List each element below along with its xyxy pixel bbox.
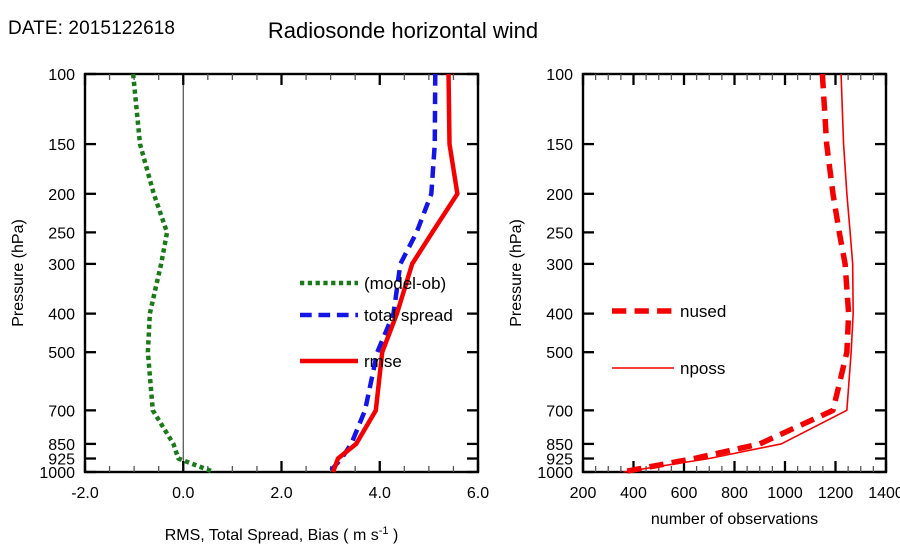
- left-panel-x-axis-title: RMS, Total Spread, Bias ( m s-1 ): [165, 525, 399, 544]
- right-panel-ytick-label: 150: [546, 137, 573, 154]
- right-panel-xtick-label: 1400: [868, 485, 900, 502]
- left-panel-ytick-label: 250: [48, 225, 75, 242]
- left-panel-series-bias: [133, 74, 214, 472]
- right-panel-frame: [583, 74, 886, 472]
- right-panel-ytick-label: 300: [546, 257, 573, 274]
- left-panel-ytick-label: 150: [48, 137, 75, 154]
- left-panel-ytick-label: 500: [48, 345, 75, 362]
- left-panel-frame: [85, 74, 478, 472]
- left-panel-series-total_spread: [330, 74, 436, 472]
- right-panel-series-nused: [622, 74, 848, 472]
- left-panel-legend-label-total_spread: total spread: [364, 306, 453, 325]
- right-panel-ytick-label: 100: [546, 67, 573, 84]
- right-panel-xtick-label: 600: [671, 485, 698, 502]
- left-panel-ytick-label: 400: [48, 307, 75, 324]
- left-panel-ytick-label: 300: [48, 257, 75, 274]
- right-panel-ytick-label: 400: [546, 307, 573, 324]
- left-panel-legend-label-bias: (model-ob): [364, 274, 446, 293]
- left-panel-ytick-label: 100: [48, 67, 75, 84]
- left-panel-ytick-label: 700: [48, 403, 75, 420]
- right-panel-ytick-label: 200: [546, 187, 573, 204]
- right-panel-ytick-label: 1000: [537, 465, 573, 482]
- left-panel-xtick-label: 2.0: [270, 485, 292, 502]
- right-panel-xtick-label: 1200: [818, 485, 854, 502]
- left-panel-xtick-label: 6.0: [467, 485, 489, 502]
- right-panel-ytick-label: 500: [546, 345, 573, 362]
- left-panel-xtick-label: 4.0: [369, 485, 391, 502]
- left-panel-legend-label-rmse: rmse: [364, 352, 402, 371]
- right-panel-xtick-label: 400: [620, 485, 647, 502]
- right-panel-series-nposs: [623, 74, 853, 472]
- left-panel-xtick-label: -2.0: [71, 485, 99, 502]
- right-panel-legend-label-nused: nused: [680, 302, 726, 321]
- right-panel-x-axis-title: number of observations: [651, 511, 818, 528]
- right-panel-legend-label-nposs: nposs: [680, 359, 725, 378]
- left-panel-y-axis-title: Pressure (hPa): [10, 219, 27, 327]
- left-panel-ytick-label: 200: [48, 187, 75, 204]
- right-panel-ytick-label: 250: [546, 225, 573, 242]
- chart-canvas: DATE: 2015122618 Radiosonde horizontal w…: [0, 0, 900, 560]
- right-panel-xtick-label: 800: [721, 485, 748, 502]
- right-panel-ytick-label: 700: [546, 403, 573, 420]
- left-panel-xtick-label: 0.0: [172, 485, 194, 502]
- left-panel-series-rmse: [333, 74, 457, 472]
- right-panel-xtick-label: 200: [570, 485, 597, 502]
- right-panel-y-axis-title: Pressure (hPa): [508, 219, 525, 327]
- right-panel-xtick-label: 1000: [767, 485, 803, 502]
- plots-svg: -2.00.02.04.06.0100150200250300400500700…: [0, 0, 900, 560]
- left-panel-ytick-label: 1000: [39, 465, 75, 482]
